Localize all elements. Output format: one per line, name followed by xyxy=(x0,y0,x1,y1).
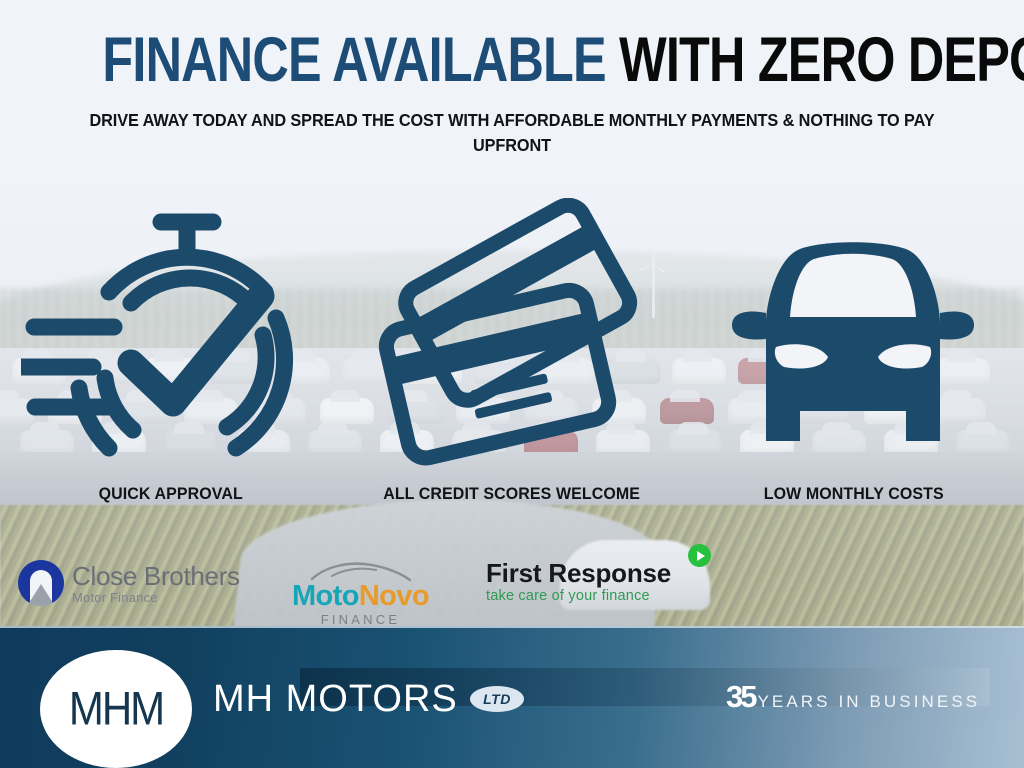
car-front-icon xyxy=(728,196,978,484)
headline: FINANCE AVAILABLE WITH ZERO DEPOSIT xyxy=(102,28,921,92)
partner-tagline: take care of your finance xyxy=(486,588,650,604)
feature-list: QUICK APPROVAL xyxy=(0,196,1024,526)
feature-label: QUICK APPROVAL xyxy=(99,484,243,504)
mhm-logo-badge: MHM xyxy=(40,650,192,768)
feature-label: LOW MONTHLY COSTS xyxy=(763,484,943,504)
subheadline: DRIVE AWAY TODAY AND SPREAD THE COST WIT… xyxy=(36,108,988,158)
ltd-badge: LTD xyxy=(470,686,524,712)
feature-quick-approval: QUICK APPROVAL xyxy=(0,196,341,526)
feature-low-monthly-costs: LOW MONTHLY COSTS xyxy=(683,196,1024,526)
partner-close-brothers: Close Brothers Motor Finance xyxy=(18,560,240,606)
ltd-badge-label: LTD xyxy=(483,691,511,707)
mhm-monogram: MHM xyxy=(69,682,163,736)
motonovo-car-swoosh-icon xyxy=(300,564,420,582)
partner-first-response: First Response take care of your finance xyxy=(486,560,671,604)
credit-cards-icon xyxy=(367,196,657,484)
partner-tagline: Motor Finance xyxy=(72,591,240,604)
partner-name-part2: Novo xyxy=(359,580,429,612)
play-button-icon xyxy=(688,544,711,567)
close-brothers-logo-icon xyxy=(18,560,64,606)
finance-partner-logos: Close Brothers Motor Finance MotoNovo FI… xyxy=(0,556,1024,622)
headline-part-black: WITH ZERO DEPOSIT xyxy=(619,25,1024,95)
partner-motonovo: MotoNovo FINANCE xyxy=(292,564,429,627)
partner-name: First Response xyxy=(486,560,671,587)
finance-advert-poster: FINANCE AVAILABLE WITH ZERO DEPOSIT DRIV… xyxy=(0,0,1024,768)
years-label: YEARS IN BUSINESS xyxy=(757,692,980,712)
headline-part-blue: FINANCE AVAILABLE xyxy=(102,25,605,95)
years-in-business: 35 YEARS IN BUSINESS xyxy=(726,681,980,712)
partner-name: Close Brothers xyxy=(72,563,240,589)
partner-tagline: FINANCE xyxy=(321,612,400,627)
feature-label: ALL CREDIT SCORES WELCOME xyxy=(384,484,641,504)
feature-all-credit-scores: ALL CREDIT SCORES WELCOME xyxy=(341,196,682,526)
partner-name-part1: Moto xyxy=(292,580,359,612)
stopwatch-check-icon xyxy=(21,196,321,484)
years-number: 35 xyxy=(726,681,754,712)
brand-name: MH MOTORS xyxy=(213,678,458,721)
footer-divider xyxy=(0,626,1024,628)
